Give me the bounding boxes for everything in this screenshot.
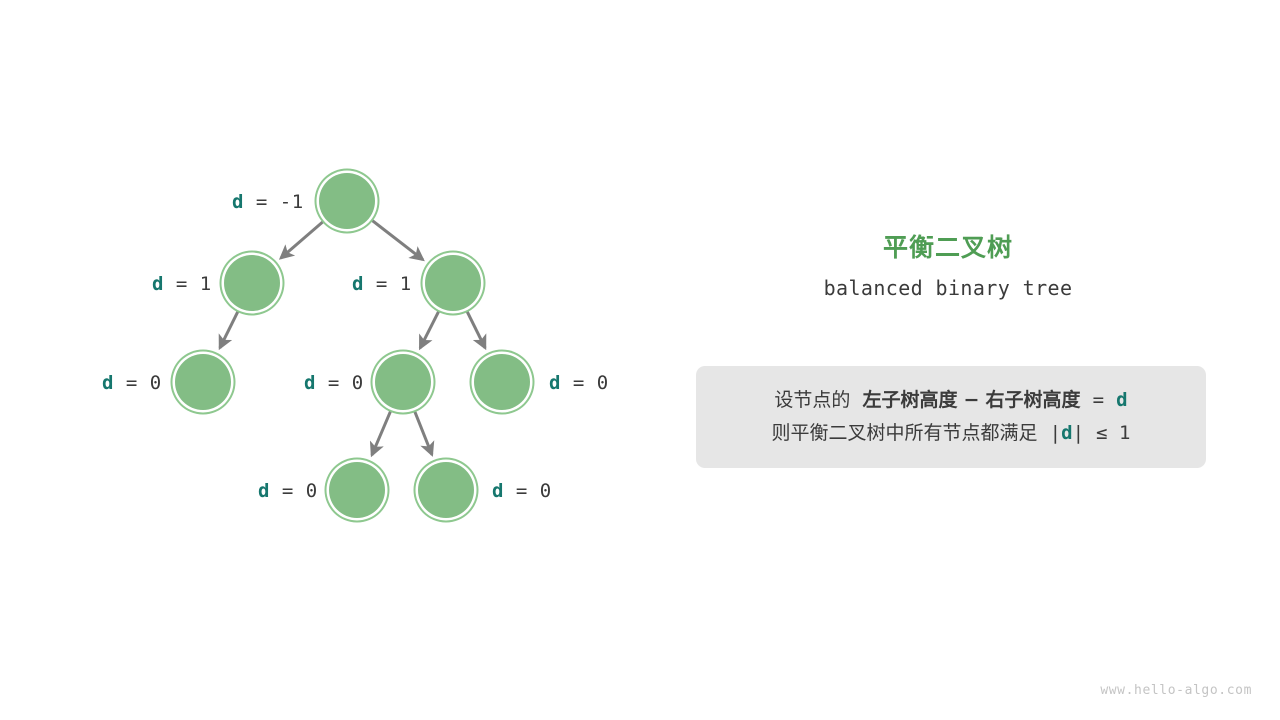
balance-factor-variable: d [304,372,316,394]
page-title: 平衡二叉树 [660,228,1236,264]
definition-line-1: 设节点的 左子树高度 − 右子树高度 = d [696,384,1206,417]
balance-factor-variable: d [232,191,244,213]
tree-node[interactable] [329,462,385,518]
balance-factor-value: = 0 [270,480,318,502]
definition-relation: ≤ 1 [1096,422,1130,444]
balance-factor-value: = 0 [114,372,162,394]
definition-line1-prefix: 设节点的 [774,389,850,411]
definition-left-subtree-height: 左子树高度 [862,389,957,411]
node-balance-factor-label: d = 1 [352,273,412,295]
tree-node[interactable] [474,354,530,410]
definition-equals-sign: = [1093,389,1104,411]
tree-edge [467,312,485,348]
definition-variable-d: d [1116,389,1127,411]
tree-node[interactable] [319,173,375,229]
abs-bar-open: | [1050,422,1061,444]
balance-factor-value: = 1 [364,273,412,295]
tree-edge [372,411,391,455]
definition-minus-sign: − [964,389,980,411]
diagram-canvas: d = -1d = 1d = 1d = 0d = 0d = 0d = 0d = … [0,0,1280,720]
balance-factor-variable: d [102,372,114,394]
binary-tree-diagram: d = -1d = 1d = 1d = 0d = 0d = 0d = 0d = … [0,0,660,720]
tree-edge [420,312,438,349]
tree-node[interactable] [375,354,431,410]
definition-box: 设节点的 左子树高度 − 右子树高度 = d 则平衡二叉树中所有节点都满足 |d… [696,366,1206,468]
balance-factor-value: = 0 [316,372,364,394]
node-balance-factor-label: d = 0 [258,480,318,502]
tree-node[interactable] [418,462,474,518]
definition-line-2: 则平衡二叉树中所有节点都满足 |d| ≤ 1 [696,417,1206,450]
watermark: www.hello-algo.com [1100,683,1252,698]
tree-node[interactable] [224,255,280,311]
balance-factor-variable: d [492,480,504,502]
definition-variable-d-abs: d [1061,422,1072,444]
tree-edges-layer [0,0,660,720]
node-balance-factor-label: d = 0 [304,372,364,394]
tree-edge [415,412,432,455]
info-panel: 平衡二叉树 balanced binary tree 设节点的 左子树高度 − … [660,0,1280,720]
balance-factor-variable: d [352,273,364,295]
balance-factor-value: = -1 [244,191,304,213]
node-balance-factor-label: d = -1 [232,191,304,213]
balance-factor-value: = 0 [504,480,552,502]
definition-right-subtree-height: 右子树高度 [986,389,1081,411]
node-balance-factor-label: d = 0 [549,372,609,394]
page-subtitle: balanced binary tree [660,276,1236,300]
node-balance-factor-label: d = 0 [492,480,552,502]
balance-factor-value: = 1 [164,273,212,295]
tree-edge [281,222,323,258]
tree-edge [220,312,238,348]
tree-edge [372,221,423,260]
node-balance-factor-label: d = 1 [152,273,212,295]
tree-node[interactable] [425,255,481,311]
tree-node[interactable] [175,354,231,410]
balance-factor-variable: d [152,273,164,295]
balance-factor-variable: d [258,480,270,502]
definition-line2-prefix: 则平衡二叉树中所有节点都满足 [772,422,1038,444]
balance-factor-value: = 0 [561,372,609,394]
abs-bar-close: | [1073,422,1084,444]
node-balance-factor-label: d = 0 [102,372,162,394]
balance-factor-variable: d [549,372,561,394]
